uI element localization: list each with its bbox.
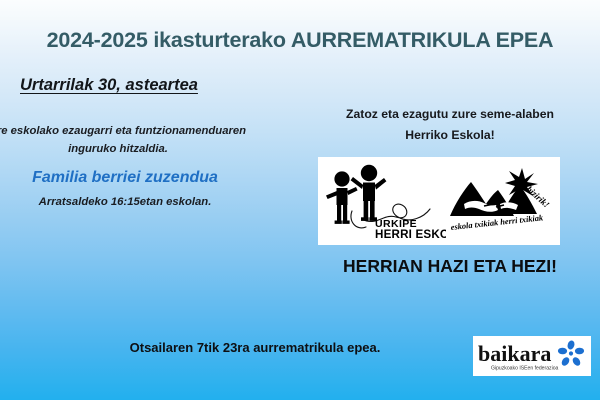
eskola-txikiak-logo: bizirik! eskola txikiak herri txikiak [444, 160, 558, 242]
baikara-tagline: Gipuzkoako ISEen federazioa [491, 366, 559, 372]
poster-slogan: HERRIAN HAZI ETA HEZI! [315, 256, 585, 277]
enrollment-period-text: Otsailaren 7tik 23ra aurrematrikula epea… [60, 340, 450, 355]
eskola-txikiak-caption: eskola txikiak herri txikiak [450, 213, 544, 232]
invitation-line-2: Herriko Eskola! [315, 125, 585, 146]
event-description-line-1: ure eskolako ezaugarri eta funtzionamend… [0, 122, 258, 140]
urkipe-herri-eskola-logo: URKIPE HERRI ESKOLA [322, 161, 446, 241]
event-date-heading: Urtarrilak 30, asteartea [20, 76, 198, 95]
urkipe-logo-line-2: HERRI ESKOLA [375, 228, 446, 241]
svg-text:eskola txikiak herri txikiak: eskola txikiak herri txikiak [450, 213, 544, 232]
audience-highlight: Familia berriei zuzendua [0, 169, 250, 187]
child-figure-large [351, 165, 387, 221]
poster-canvas: 2024-2025 ikasturterako AURREMATRIKULA E… [0, 0, 600, 400]
event-description: ure eskolako ezaugarri eta funtzionamend… [0, 122, 258, 159]
invitation-line-1: Zatoz eta ezagutu zure seme-alaben [315, 104, 585, 125]
page-title: 2024-2025 ikasturterako AURREMATRIKULA E… [0, 28, 600, 53]
baikara-logo: baikara Gipuzkoako ISEen federazioa [473, 336, 591, 376]
event-time: Arratsaldeko 16:15etan eskolan. [0, 196, 250, 208]
logo-panel: URKIPE HERRI ESKOLA [318, 157, 560, 245]
baikara-wordmark: baikara [478, 341, 551, 366]
event-description-line-2: inguruko hitzaldia. [0, 140, 258, 158]
invitation-text: Zatoz eta ezagutu zure seme-alaben Herri… [315, 104, 585, 146]
